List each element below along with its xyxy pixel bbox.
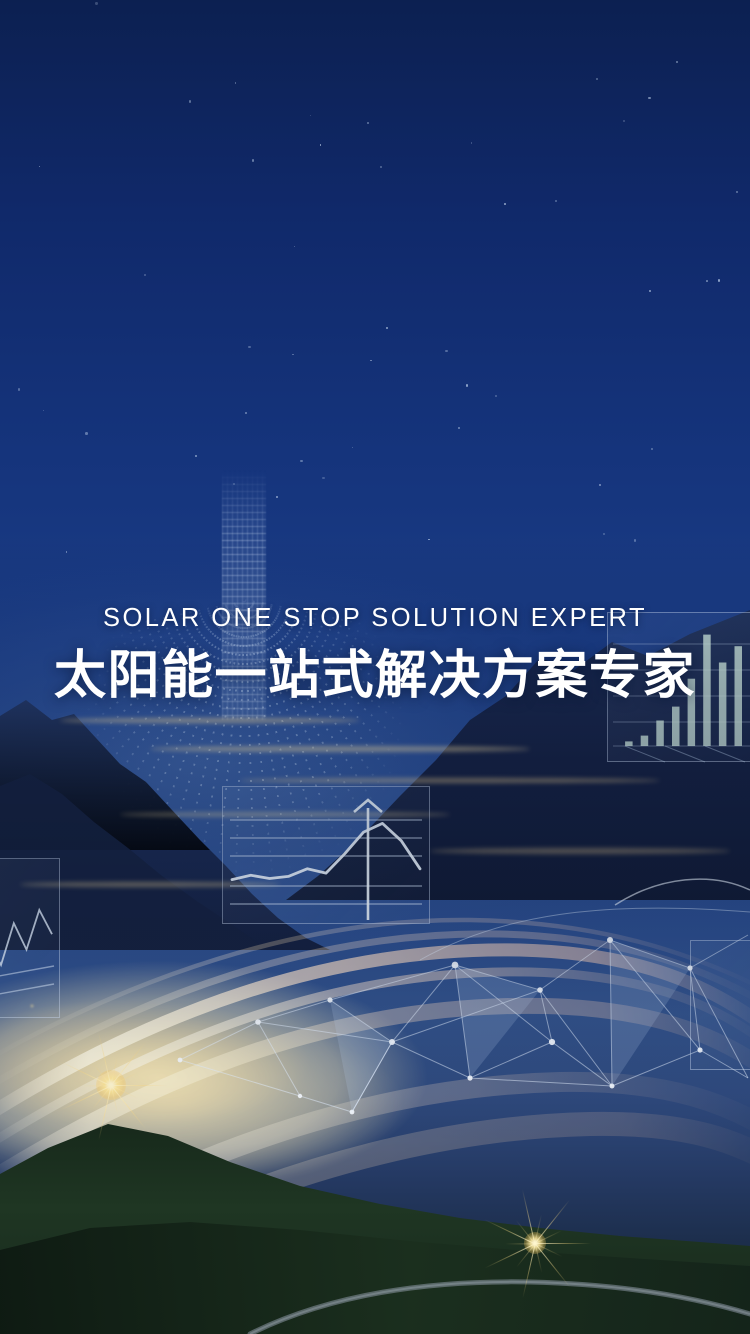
flare-spike	[535, 1243, 591, 1244]
star-dot	[370, 360, 371, 361]
flare-spike	[111, 1085, 167, 1086]
star-dot	[634, 539, 636, 541]
star-dot	[466, 384, 468, 386]
flare-spike	[484, 1243, 535, 1269]
star-dot	[504, 203, 506, 205]
lens-flare-starburst-left	[36, 1010, 186, 1160]
line-chart-panel	[222, 786, 430, 924]
star-dot	[651, 448, 653, 450]
star-dot	[428, 539, 430, 541]
star-dot	[649, 290, 651, 292]
bar	[641, 736, 649, 746]
star-dot	[495, 395, 498, 398]
corner-frame-panel	[690, 940, 750, 1070]
star-dot	[603, 533, 605, 535]
flare-spike	[505, 1243, 535, 1244]
hud-frame	[690, 940, 750, 1070]
star-dot	[555, 200, 557, 202]
bar	[656, 721, 664, 747]
star-dot	[252, 159, 254, 161]
bar	[625, 741, 633, 746]
star-dot	[599, 484, 601, 486]
hero-banner: SOLAR ONE STOP SOLUTION EXPERT 太阳能一站式解决方…	[0, 0, 750, 1334]
flare-spike	[81, 1085, 111, 1086]
star-dot	[386, 327, 388, 329]
line-chart-svg	[222, 786, 430, 924]
star-dot	[18, 388, 20, 390]
star-dot	[95, 2, 97, 4]
star-dot	[85, 432, 88, 435]
star-dot	[676, 61, 678, 63]
star-dot	[367, 122, 368, 123]
star-dot	[292, 354, 293, 355]
banner-headline: 太阳能一站式解决方案专家	[0, 650, 750, 702]
spike-chart-panel	[0, 858, 60, 1018]
star-dot	[235, 82, 237, 84]
star-dot	[310, 115, 311, 116]
star-dot	[39, 166, 40, 167]
star-dot	[322, 477, 325, 480]
banner-eyebrow: SOLAR ONE STOP SOLUTION EXPERT	[0, 606, 750, 632]
star-dot	[43, 410, 45, 412]
star-dot	[380, 166, 381, 167]
star-dot	[189, 100, 192, 103]
star-dot	[718, 279, 720, 281]
star-dot	[596, 78, 598, 80]
star-dot	[245, 412, 247, 414]
star-dot	[623, 120, 625, 122]
star-dot	[471, 142, 473, 144]
bar	[672, 707, 680, 746]
star-dot	[648, 97, 650, 99]
star-dot	[195, 455, 197, 457]
star-dot	[445, 350, 448, 353]
star-dot	[320, 144, 321, 145]
star-dot	[144, 274, 146, 276]
star-dot	[736, 191, 737, 192]
star-dot	[706, 280, 708, 282]
banner-copy: SOLAR ONE STOP SOLUTION EXPERT 太阳能一站式解决方…	[0, 606, 750, 702]
star-dot	[248, 346, 251, 349]
spike-chart-svg	[0, 858, 60, 1018]
star-dot	[352, 447, 353, 448]
star-dot	[276, 496, 278, 498]
star-dot	[300, 460, 303, 463]
flare-spike	[484, 1219, 535, 1245]
star-dot	[66, 551, 68, 553]
star-dot	[458, 427, 460, 429]
star-dot	[294, 246, 296, 248]
lens-flare-starburst-bottom	[470, 1178, 600, 1308]
